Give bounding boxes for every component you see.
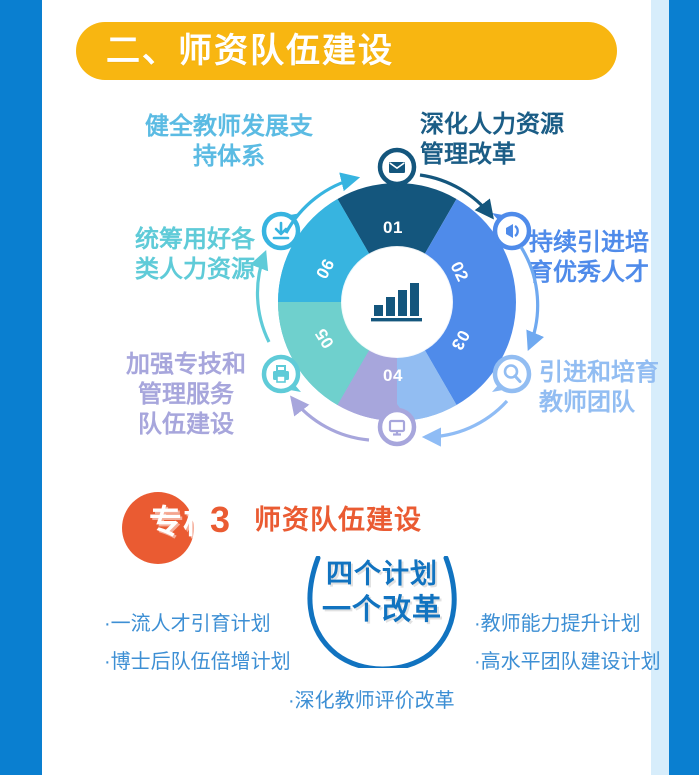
wheel-label-right-lower-line1: 引进和培育 (539, 358, 699, 388)
wheel-label-top-right-line1: 深化人力资源 (420, 110, 640, 140)
wheel-label-top-right: 深化人力资源 管理改革 (420, 110, 640, 170)
wheel-label-top-left: 健全教师发展支 持体系 (114, 112, 344, 172)
donut-hub (342, 247, 452, 357)
wheel-label-right-upper-line1: 持续引进培 (529, 228, 699, 258)
badge-01-envelope[interactable] (375, 147, 419, 191)
column-badge-number: 3 (210, 502, 230, 538)
badge-02-megaphone[interactable] (490, 209, 534, 253)
wheel-label-left-lower-line1: 加强专技和 (86, 350, 286, 380)
badge-03-search[interactable] (490, 352, 534, 396)
wheel-label-left-lower: 加强专技和 管理服务 队伍建设 (86, 350, 286, 441)
wheel-label-right-upper: 持续引进培 育优秀人才 (529, 228, 699, 288)
wheel-label-top-right-line2: 管理改革 (420, 140, 640, 170)
envelope-icon (389, 162, 405, 173)
wheel-label-right-lower: 引进和培育 教师团队 (539, 358, 699, 418)
section-header-pill: 二、师资队伍建设 (76, 22, 617, 80)
wheel-label-left-lower-line2: 管理服务 (86, 380, 286, 410)
wheel-label-top-left-line1: 健全教师发展支 (114, 112, 344, 142)
bar-chart-icon (370, 279, 424, 325)
plan-item-2: ·教师能力提升计划 (474, 607, 641, 636)
left-rail-decoration (0, 0, 42, 775)
content-canvas: 二、师资队伍建设 健全教师发展支 持体系 深化人力资源 管理改革 统筹用好各 类… (42, 0, 651, 775)
plan-item-3: ·高水平团队建设计划 (474, 645, 661, 674)
wheel-label-right-upper-line2: 育优秀人才 (529, 258, 699, 288)
wheel-label-left-upper-line2: 类人力资源 (100, 255, 290, 285)
badge-04-monitor[interactable] (375, 404, 419, 448)
plans-bracket-line2: 一个改革 (310, 596, 454, 625)
plans-bracket-line1: 四个计划 (314, 561, 450, 588)
wheel-label-right-lower-line2: 教师团队 (539, 388, 699, 418)
wheel-label-left-lower-line3: 队伍建设 (86, 410, 286, 440)
wheel-label-top-left-line2: 持体系 (114, 142, 344, 172)
infographic-page: 二、师资队伍建设 健全教师发展支 持体系 深化人力资源 管理改革 统筹用好各 类… (0, 0, 699, 775)
plan-item-4: ·深化教师评价改革 (288, 684, 455, 713)
badge-06-download[interactable] (259, 209, 303, 253)
plan-item-1: ·博士后队伍倍增计划 (104, 645, 291, 674)
column-badge-title: 师资队伍建设 (254, 507, 422, 534)
plan-item-0: ·一流人才引育计划 (104, 607, 271, 636)
page-title: 二、师资队伍建设 (106, 34, 394, 68)
badge-05-printer[interactable] (259, 352, 303, 396)
